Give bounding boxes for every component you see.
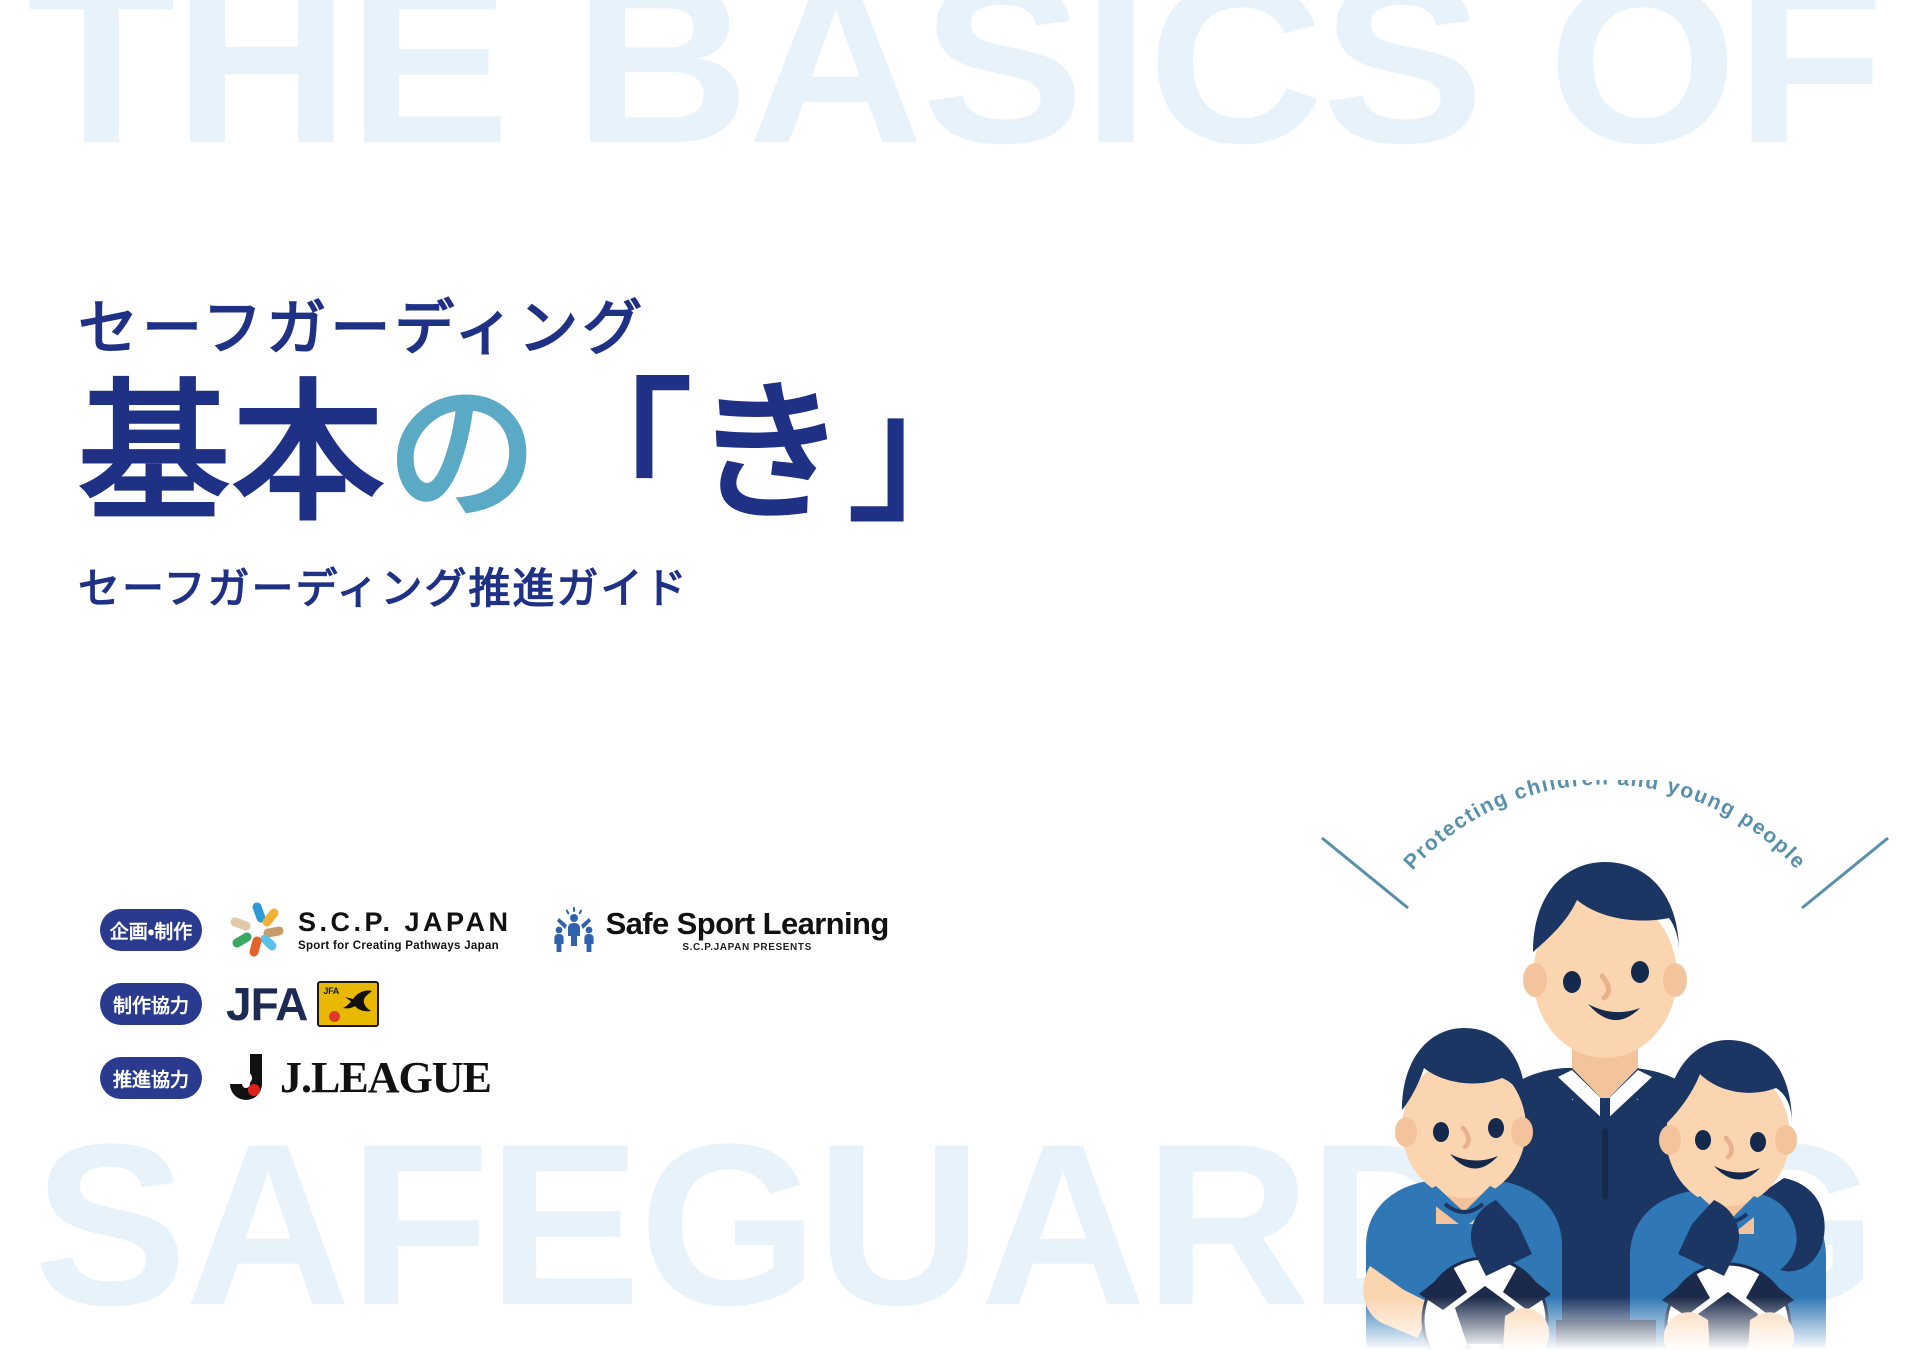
- logo-scp-name: S.C.P. JAPAN: [298, 907, 512, 937]
- credit-row: 制作協力 JFA JFA: [100, 974, 889, 1034]
- logo-jfa-name: JFA: [226, 981, 307, 1027]
- logo-scp-tagline: Sport for Creating Pathways Japan: [298, 939, 512, 953]
- credit-badge-production-support: 制作協力: [100, 983, 202, 1025]
- credit-row: 推進協力 J.LEAGUE: [100, 1048, 889, 1108]
- logo-ssl-name: Safe Sport Learning: [606, 907, 889, 941]
- cover-illustration: Protecting children and young people: [1300, 780, 1909, 1350]
- jfa-emblem-ball: [329, 1011, 340, 1022]
- logo-ssl-text: Safe Sport Learning S.C.P.JAPAN PRESENTS: [606, 907, 889, 953]
- people-cheering-icon: [550, 906, 598, 954]
- logo-ssl-tagline: S.C.P.JAPAN PRESENTS: [606, 942, 889, 953]
- credit-badge-planning: 企画・制作: [100, 909, 202, 951]
- crow-icon: [341, 987, 375, 1017]
- logo-jleague-name: J.LEAGUE: [280, 1056, 491, 1100]
- headline-accent: の: [386, 365, 540, 542]
- page-title: 基本の「き」: [78, 370, 1078, 538]
- decor-slash-left: [1322, 838, 1408, 908]
- illustration-arc-caption: Protecting children and young people: [1399, 780, 1810, 874]
- credit-badge-promotion-support: 推進協力: [100, 1057, 202, 1099]
- credit-logo-group: J.LEAGUE: [226, 1052, 491, 1104]
- headline-part-1: 基本: [78, 365, 386, 542]
- credit-row: 企画・制作: [100, 900, 889, 960]
- credits-block: 企画・制作: [100, 900, 889, 1122]
- headline-part-2: 「き」: [540, 365, 1002, 542]
- watermark-top: THE BASICS OF: [0, 0, 1909, 178]
- jfa-emblem-label: JFA: [323, 986, 339, 996]
- logo-scp-text: S.C.P. JAPAN Sport for Creating Pathways…: [298, 907, 512, 953]
- title-block: セーフガーディング 基本の「き」 セーフガーディング推進ガイド: [78, 296, 1078, 614]
- logo-scp-japan[interactable]: S.C.P. JAPAN Sport for Creating Pathways…: [226, 899, 512, 961]
- logo-jfa[interactable]: JFA JFA: [226, 981, 379, 1027]
- credit-logo-group: S.C.P. JAPAN Sport for Creating Pathways…: [226, 899, 889, 961]
- page-subtitle: セーフガーディング推進ガイド: [78, 564, 1078, 614]
- decor-slash-right: [1802, 838, 1888, 908]
- title-kicker: セーフガーディング: [78, 296, 1078, 362]
- jfa-crow-emblem-icon: JFA: [317, 981, 379, 1027]
- cover-page: THE BASICS OF SAFEGUARDING セーフガーディング 基本の…: [0, 0, 1909, 1350]
- logo-safe-sport-learning[interactable]: Safe Sport Learning S.C.P.JAPAN PRESENTS: [550, 906, 889, 954]
- jleague-j-icon: [226, 1052, 278, 1104]
- logo-jleague[interactable]: J.LEAGUE: [226, 1052, 491, 1104]
- credit-logo-group: JFA JFA: [226, 981, 379, 1027]
- pinwheel-icon: [226, 899, 288, 961]
- arc-caption-text: Protecting children and young people: [1399, 780, 1810, 874]
